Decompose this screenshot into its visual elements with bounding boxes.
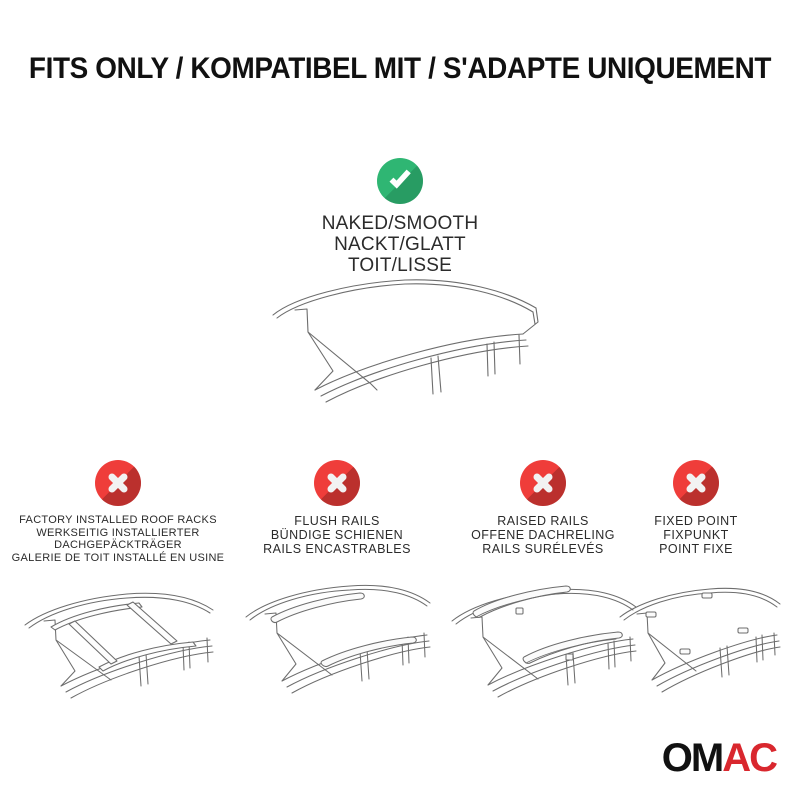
logo-text-om: OM [662, 736, 722, 780]
option-label: FACTORY INSTALLED ROOF RACKS WERKSEITIG … [7, 514, 229, 564]
option-label-line-0: FIXED POINT [608, 514, 784, 528]
rejected-option-flush-rails: FLUSH RAILS BÜNDIGE SCHIENEN RAILS ENCAS… [232, 460, 442, 740]
x-glyph [95, 460, 141, 506]
car-roof-fixed-point-illustration [608, 565, 784, 735]
check-circle-icon [377, 158, 423, 204]
option-label-line-0: FLUSH RAILS [232, 514, 442, 528]
x-circle-icon [673, 460, 719, 506]
rejected-option-factory-installed-roof-racks: FACTORY INSTALLED ROOF RACKS WERKSEITIG … [7, 460, 229, 743]
logo-text-ac: AC [722, 736, 776, 780]
option-label: FLUSH RAILS BÜNDIGE SCHIENEN RAILS ENCAS… [232, 514, 442, 556]
approved-label-line-1: NACKT/GLATT [200, 234, 600, 255]
option-label-line-2: RAILS ENCASTRABLES [232, 542, 442, 556]
option-label-line-3: GALERIE DE TOIT INSTALLÉ EN USINE [7, 552, 229, 565]
x-glyph [673, 460, 719, 506]
approved-label: NAKED/SMOOTH NACKT/GLATT TOIT/LISSE [200, 213, 600, 276]
approved-option: NAKED/SMOOTH NACKT/GLATT TOIT/LISSE [200, 158, 600, 276]
x-circle-icon [95, 460, 141, 506]
car-roof-naked-smooth-illustration [255, 272, 565, 422]
approved-label-line-0: NAKED/SMOOTH [200, 213, 600, 234]
option-label-line-1: WERKSEITIG INSTALLIERTER [7, 527, 229, 540]
option-label-line-2: DACHGEPÄCKTRÄGER [7, 539, 229, 552]
car-roof-factory-racks-illustration [7, 568, 229, 738]
option-label-line-1: BÜNDIGE SCHIENEN [232, 528, 442, 542]
check-glyph [377, 158, 423, 204]
x-circle-icon [314, 460, 360, 506]
car-roof-flush-rails-illustration [232, 565, 442, 735]
page-title: FITS ONLY / KOMPATIBEL MIT / S'ADAPTE UN… [28, 52, 772, 86]
x-glyph [520, 460, 566, 506]
option-label-line-2: POINT FIXE [608, 542, 784, 556]
option-label-line-0: FACTORY INSTALLED ROOF RACKS [7, 514, 229, 527]
x-circle-icon [520, 460, 566, 506]
rejected-option-fixed-point: FIXED POINT FIXPUNKT POINT FIXE [608, 460, 784, 740]
option-label-line-1: FIXPUNKT [608, 528, 784, 542]
omac-logo: OMAC [662, 738, 776, 778]
option-label: FIXED POINT FIXPUNKT POINT FIXE [608, 514, 784, 556]
x-glyph [314, 460, 360, 506]
